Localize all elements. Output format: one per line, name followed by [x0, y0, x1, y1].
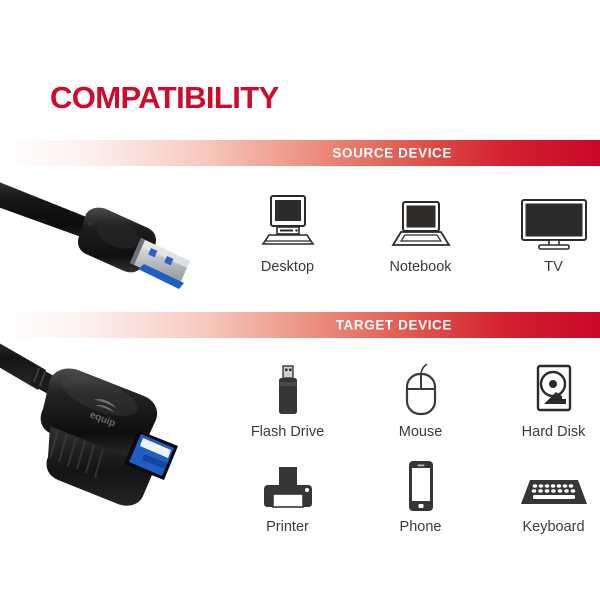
compatibility-infographic: COMPATIBILITY	[0, 0, 600, 600]
device-label: Desktop	[261, 259, 314, 275]
device-cell-printer[interactable]: Printer	[221, 450, 354, 535]
hard-disk-icon	[531, 355, 577, 417]
keyboard-icon	[519, 450, 589, 512]
section-bar-source-device: SOURCE DEVICE	[0, 140, 600, 166]
page-title: COMPATIBILITY	[50, 80, 279, 116]
device-label: TV	[544, 259, 563, 275]
device-label: Printer	[266, 519, 309, 535]
device-cell-desktop[interactable]: Desktop	[221, 190, 354, 275]
tv-icon	[519, 190, 589, 252]
notebook-laptop-icon	[389, 190, 453, 252]
device-grid-source: Desktop Notebook	[221, 190, 600, 275]
section-bar-label: SOURCE DEVICE	[332, 146, 452, 161]
section-bar-label: TARGET DEVICE	[336, 318, 452, 333]
device-label: Hard Disk	[522, 424, 586, 440]
device-grid-target-row-2: Printer Phone	[221, 450, 600, 535]
smartphone-icon	[404, 450, 438, 512]
usb-3-type-a-male-plug-photo	[0, 168, 224, 308]
device-label: Keyboard	[522, 519, 584, 535]
device-cell-flash-drive[interactable]: Flash Drive	[221, 355, 354, 440]
device-cell-notebook[interactable]: Notebook	[354, 190, 487, 275]
printer-icon	[262, 450, 314, 512]
device-cell-hard-disk[interactable]: Hard Disk	[487, 355, 600, 440]
usb-3-type-a-female-receptacle-photo: equip	[0, 330, 232, 525]
device-label: Phone	[400, 519, 442, 535]
device-cell-tv[interactable]: TV	[487, 190, 600, 275]
device-label: Notebook	[389, 259, 451, 275]
device-cell-phone[interactable]: Phone	[354, 450, 487, 535]
section-bar-target-device: TARGET DEVICE	[0, 312, 600, 338]
usb-flash-drive-icon	[268, 355, 308, 417]
device-cell-mouse[interactable]: Mouse	[354, 355, 487, 440]
device-cell-keyboard[interactable]: Keyboard	[487, 450, 600, 535]
desktop-computer-icon	[257, 190, 319, 252]
device-label: Flash Drive	[251, 424, 324, 440]
device-label: Mouse	[399, 424, 443, 440]
computer-mouse-icon	[400, 355, 442, 417]
device-grid-target-row-1: Flash Drive Mouse	[221, 355, 600, 440]
